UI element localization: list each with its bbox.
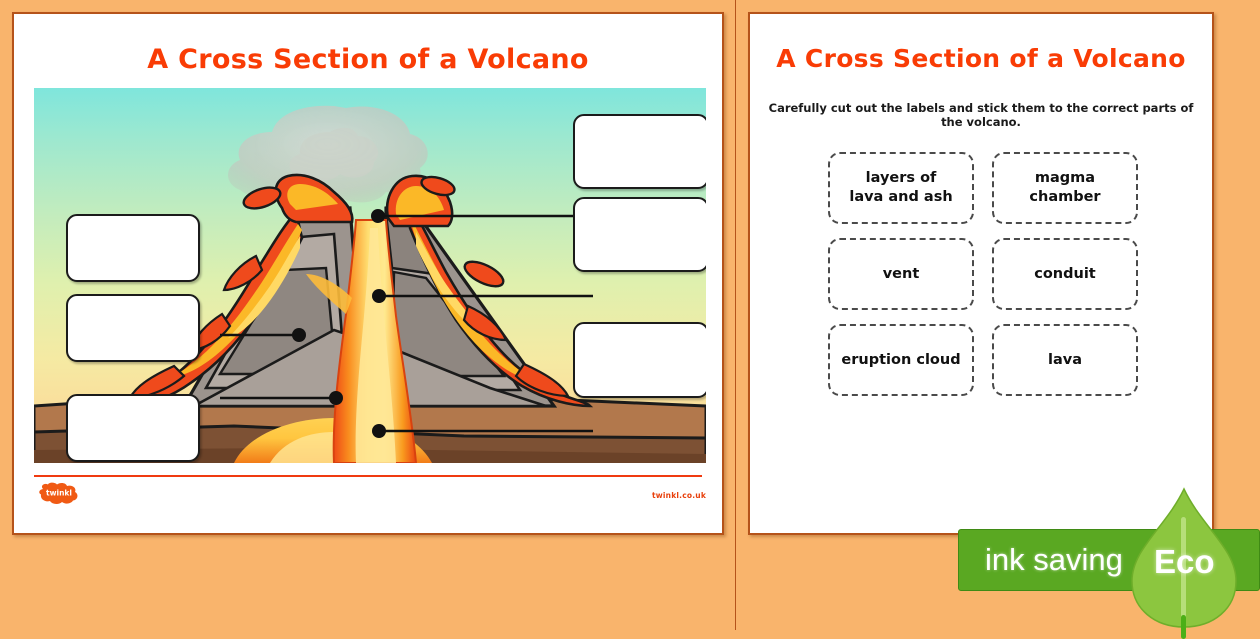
- cut-out-label[interactable]: layers of lava and ash: [828, 152, 974, 224]
- cut-out-label[interactable]: eruption cloud: [828, 324, 974, 396]
- cut-out-label[interactable]: lava: [992, 324, 1138, 396]
- page-title-right: A Cross Section of a Volcano: [750, 44, 1212, 73]
- ink-saving-eco-badge: ink saving Eco: [958, 529, 1260, 591]
- page-divider: [735, 0, 745, 630]
- svg-text:twinkl: twinkl: [46, 489, 72, 498]
- twinkl-url: twinkl.co.uk: [652, 491, 706, 500]
- footer-divider-rule: [34, 475, 702, 477]
- page-title-left: A Cross Section of a Volcano: [14, 44, 722, 75]
- answer-box-right-2[interactable]: [573, 197, 706, 272]
- answer-box-right-3[interactable]: [573, 322, 706, 398]
- twinkl-logo: twinkl: [36, 482, 82, 505]
- cut-out-label-grid: layers of lava and ash magma chamber ven…: [828, 152, 1138, 396]
- volcano-cross-section-diagram: [34, 88, 706, 463]
- dot-eruption-cloud: [371, 209, 385, 223]
- eco-badge-text: ink saving: [985, 542, 1123, 578]
- answer-box-left-2[interactable]: [66, 294, 200, 362]
- dot-conduit: [372, 424, 386, 438]
- left-worksheet-page: A Cross Section of a Volcano: [12, 12, 724, 535]
- answer-box-left-3[interactable]: [66, 394, 200, 462]
- dot-layers-of-lava-and-ash: [329, 391, 343, 405]
- answer-box-right-1[interactable]: [573, 114, 706, 189]
- right-worksheet-page: A Cross Section of a Volcano Carefully c…: [748, 12, 1214, 535]
- cut-out-label[interactable]: conduit: [992, 238, 1138, 310]
- answer-box-left-1[interactable]: [66, 214, 200, 282]
- instruction-text: Carefully cut out the labels and stick t…: [750, 101, 1212, 129]
- dot-vent: [372, 289, 386, 303]
- cut-out-label[interactable]: vent: [828, 238, 974, 310]
- dot-lava: [292, 328, 306, 342]
- cut-out-label[interactable]: magma chamber: [992, 152, 1138, 224]
- eco-badge-word: Eco: [1154, 543, 1215, 581]
